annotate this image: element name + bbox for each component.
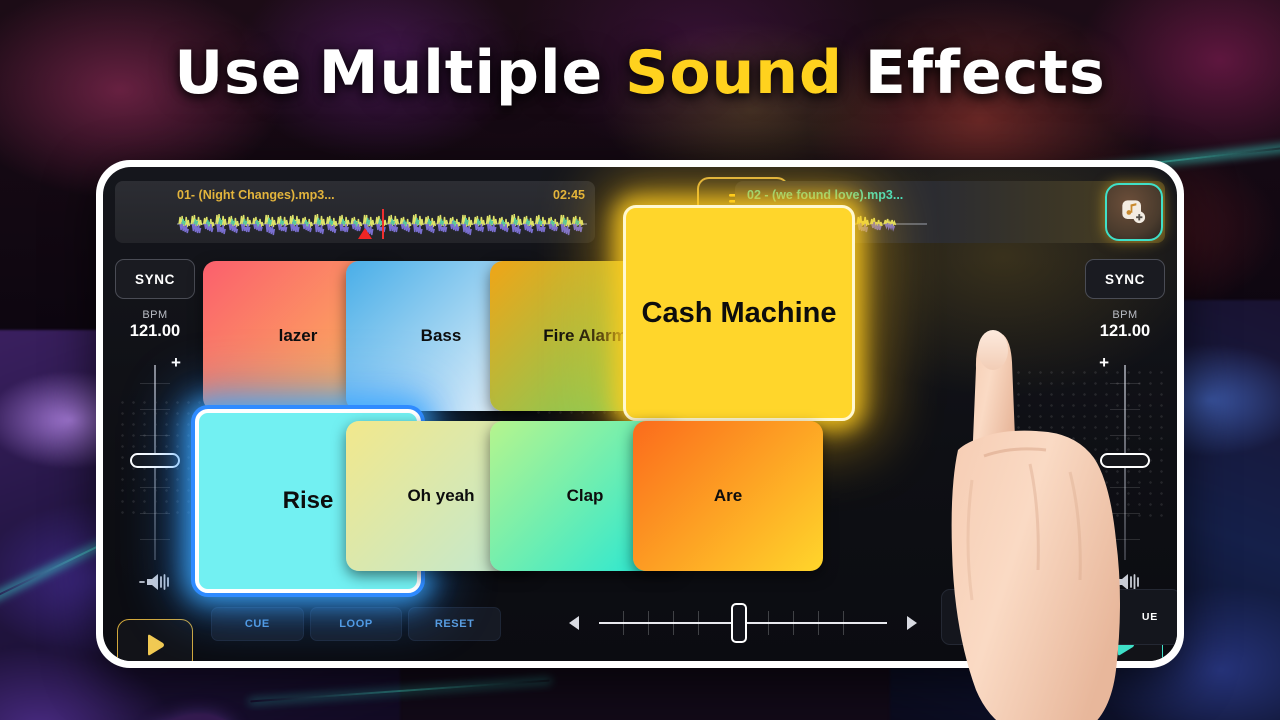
- cue-transport-label: UE: [1142, 611, 1158, 623]
- slider-knob[interactable]: [130, 453, 180, 468]
- deck-left-track-strip[interactable]: 01- (Night Changes).mp3... 02:45: [115, 181, 595, 243]
- background-dj-dial: [134, 703, 241, 720]
- headline-part1: Use: [174, 38, 302, 108]
- deck-left-pitch-slider[interactable]: [132, 365, 178, 560]
- deck-left-waveform[interactable]: [177, 209, 587, 239]
- slider-knob[interactable]: [1100, 453, 1150, 468]
- deck-left-controls: SYNC BPM 121.00 +: [109, 253, 201, 661]
- deck-right-bpm-label: BPM: [1079, 309, 1171, 321]
- playhead-triangle: [358, 228, 372, 239]
- play-icon: [141, 632, 169, 658]
- sound-pad-label: Fire Alarm: [543, 326, 626, 346]
- deck-left-track-time: 02:45: [553, 188, 585, 202]
- screenshot-root: Use Multiple Sound Effects: [0, 0, 1280, 720]
- sound-pad[interactable]: Cash Machine: [623, 205, 855, 421]
- headline-highlight: Sound: [625, 38, 843, 108]
- deck-left-volume-icon: [138, 571, 172, 598]
- deck-left-bpm-label: BPM: [109, 309, 201, 321]
- deck-right-bpm-value: 121.00: [1079, 322, 1171, 341]
- sound-pad-label: Bass: [421, 326, 462, 346]
- deck-left-bpm: BPM 121.00: [109, 309, 201, 341]
- deck-right-bpm: BPM 121.00: [1079, 309, 1171, 341]
- playhead-marker: [382, 209, 384, 239]
- deck-left-bpm-value: 121.00: [109, 322, 201, 341]
- sound-pad-label: Are: [714, 486, 742, 506]
- sound-pad[interactable]: Are: [633, 421, 823, 571]
- deck-right-track-title: 02 - (we found love).mp3...: [747, 188, 903, 202]
- sound-pad-label: Clap: [567, 486, 604, 506]
- sound-pad-grid: lazerBassFire AlarmCash MachineRiseOh ye…: [203, 253, 1077, 643]
- headline-part2: Multiple: [319, 38, 603, 108]
- tablet-device: 01- (Night Changes).mp3... 02:45: [96, 160, 1184, 668]
- headline-part3: Effects: [865, 38, 1106, 108]
- deck-left-play-button[interactable]: [117, 619, 193, 661]
- deck-left-track-title: 01- (Night Changes).mp3...: [177, 188, 335, 202]
- add-music-icon: [1120, 198, 1148, 226]
- deck-right-pitch-slider[interactable]: [1102, 365, 1148, 560]
- deck-left-sync-button[interactable]: SYNC: [115, 259, 195, 299]
- sound-pad-label: lazer: [279, 326, 318, 346]
- headline: Use Multiple Sound Effects: [0, 38, 1280, 108]
- sound-pad-label: Oh yeah: [407, 486, 474, 506]
- add-music-button-right[interactable]: [1105, 183, 1163, 241]
- deck-right-sync-button[interactable]: SYNC: [1085, 259, 1165, 299]
- sound-pad-label: Rise: [283, 487, 334, 515]
- app-screen: 01- (Night Changes).mp3... 02:45: [103, 167, 1177, 661]
- sound-pad-label: Cash Machine: [642, 297, 837, 330]
